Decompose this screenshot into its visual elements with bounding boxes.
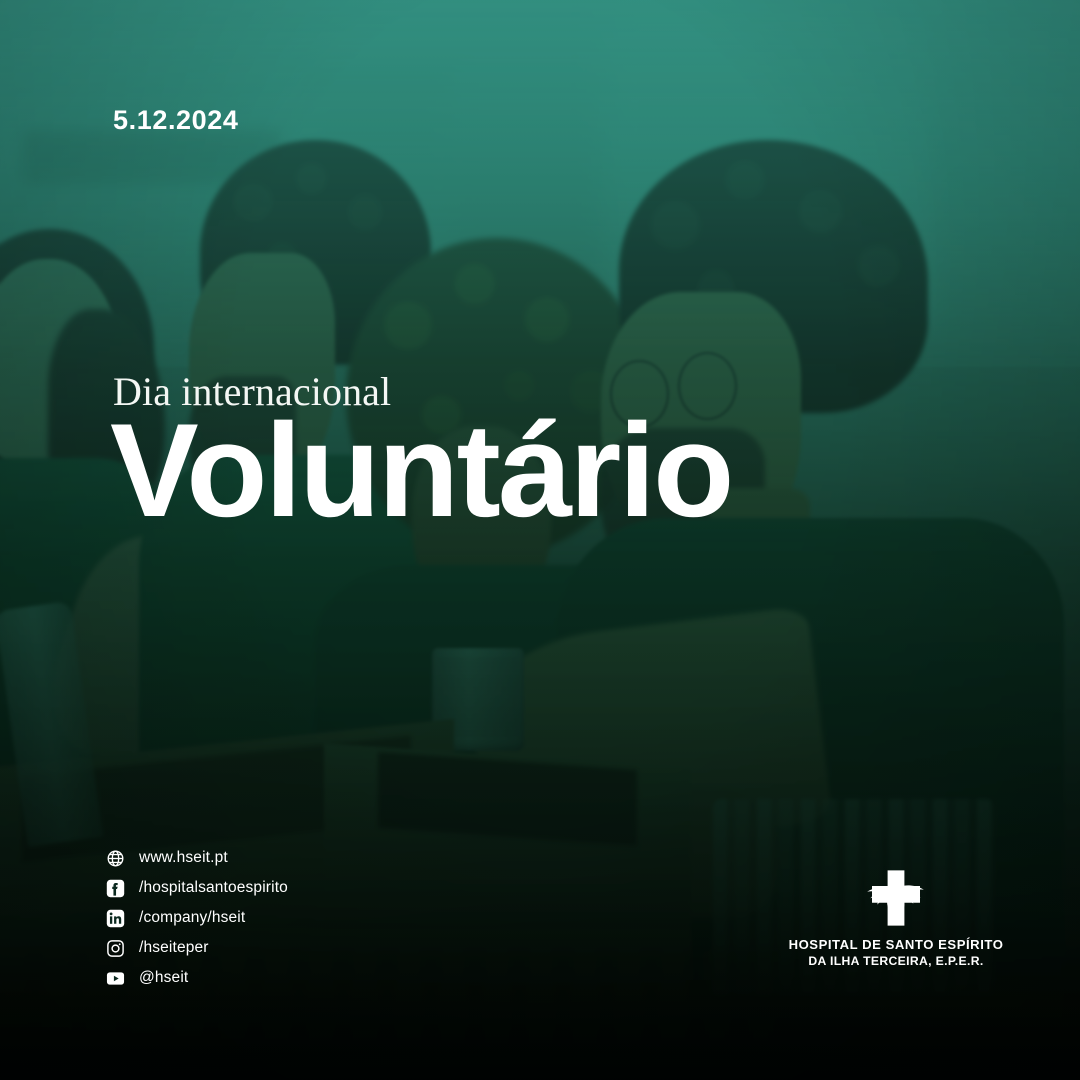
social-link-website[interactable]: www.hseit.pt bbox=[106, 845, 288, 871]
globe-icon bbox=[106, 849, 125, 868]
content-layer: 5.12.2024 Dia internacional Voluntário w… bbox=[0, 0, 1080, 1080]
logo-name-line2: DA ILHA TERCEIRA, E.P.E.R. bbox=[808, 954, 983, 970]
social-link-linkedin[interactable]: /company/hseit bbox=[106, 905, 288, 931]
event-date: 5.12.2024 bbox=[113, 105, 239, 136]
instagram-icon bbox=[106, 939, 125, 958]
social-link-label: @hseit bbox=[139, 969, 188, 987]
facebook-icon bbox=[106, 879, 125, 898]
logo-name-line1: HOSPITAL DE SANTO ESPÍRITO bbox=[789, 937, 1004, 954]
social-links-list: www.hseit.pt /hospitalsantoespirito bbox=[106, 845, 288, 991]
youtube-icon bbox=[106, 969, 125, 988]
social-link-label: /hospitalsantoespirito bbox=[139, 879, 288, 897]
poster-canvas: 5.12.2024 Dia internacional Voluntário w… bbox=[0, 0, 1080, 1080]
social-link-label: www.hseit.pt bbox=[139, 849, 228, 867]
hospital-logo: HOSPITAL DE SANTO ESPÍRITO DA ILHA TERCE… bbox=[795, 868, 997, 969]
social-link-facebook[interactable]: /hospitalsantoespirito bbox=[106, 875, 288, 901]
social-link-label: /company/hseit bbox=[139, 909, 245, 927]
cross-with-dove-icon bbox=[859, 868, 933, 928]
social-link-label: /hseiteper bbox=[139, 939, 209, 957]
page-title: Voluntário bbox=[110, 404, 732, 540]
social-link-youtube[interactable]: @hseit bbox=[106, 965, 288, 991]
social-link-instagram[interactable]: /hseiteper bbox=[106, 935, 288, 961]
linkedin-icon bbox=[106, 909, 125, 928]
